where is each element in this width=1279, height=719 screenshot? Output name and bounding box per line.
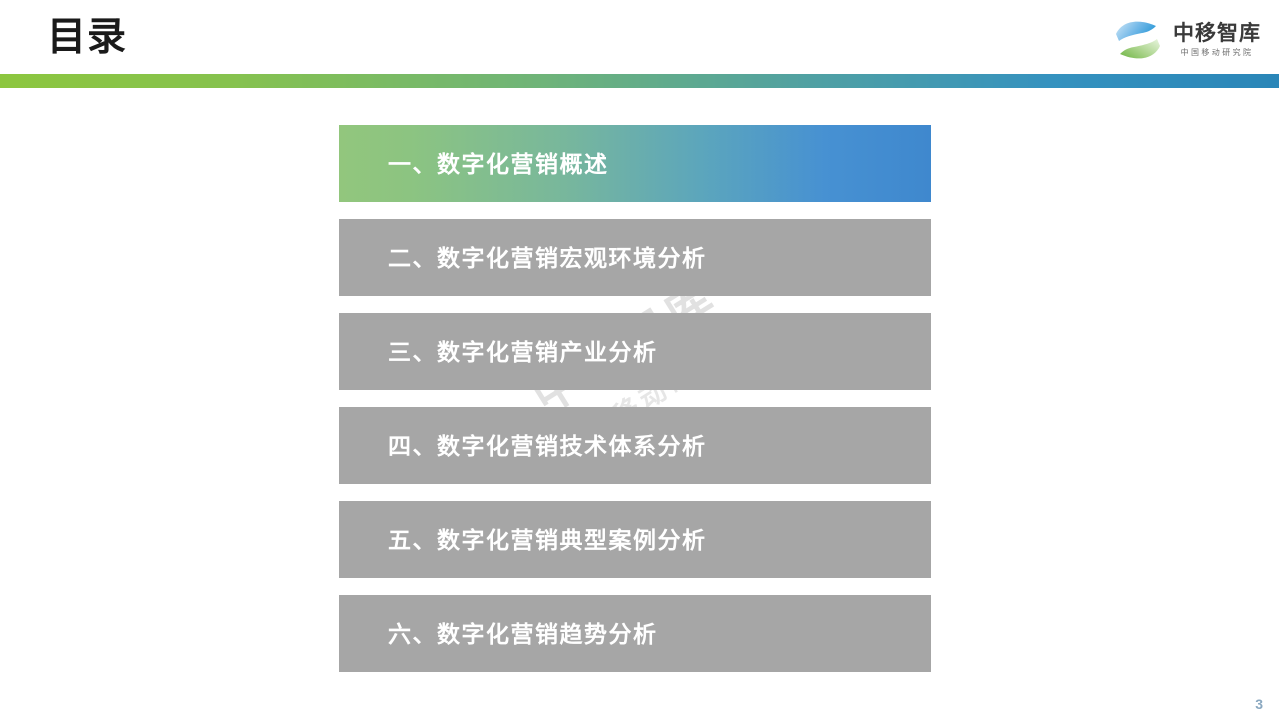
brand-logo: 中移智库 中国移动研究院	[1112, 15, 1261, 65]
toc-item-label: 六、数字化营销趋势分析	[339, 619, 658, 649]
toc-item-2[interactable]: 二、数字化营销宏观环境分析	[339, 219, 931, 296]
logo-text-block: 中移智库 中国移动研究院	[1173, 23, 1261, 58]
header-divider-bar	[0, 74, 1279, 88]
toc-item-label: 五、数字化营销典型案例分析	[339, 525, 707, 555]
toc-item-label: 四、数字化营销技术体系分析	[339, 431, 707, 461]
slide-canvas: 目录	[0, 0, 1279, 719]
page-number: 3	[1255, 695, 1263, 713]
page-title: 目录	[47, 14, 127, 62]
toc-item-label: 三、数字化营销产业分析	[339, 337, 658, 367]
toc-item-5[interactable]: 五、数字化营销典型案例分析	[339, 501, 931, 578]
slide-header: 目录	[0, 0, 1279, 74]
toc-item-label: 二、数字化营销宏观环境分析	[339, 243, 707, 273]
toc-item-1[interactable]: 一、数字化营销概述	[339, 125, 931, 202]
toc-item-4[interactable]: 四、数字化营销技术体系分析	[339, 407, 931, 484]
toc-item-6[interactable]: 六、数字化营销趋势分析	[339, 595, 931, 672]
toc-item-3[interactable]: 三、数字化营销产业分析	[339, 313, 931, 390]
table-of-contents: 一、数字化营销概述 二、数字化营销宏观环境分析 三、数字化营销产业分析 四、数字…	[339, 125, 931, 672]
logo-name: 中移智库	[1173, 23, 1261, 45]
swoosh-logo-icon	[1112, 17, 1164, 63]
toc-item-label: 一、数字化营销概述	[339, 149, 609, 179]
logo-subtitle: 中国移动研究院	[1181, 48, 1254, 58]
